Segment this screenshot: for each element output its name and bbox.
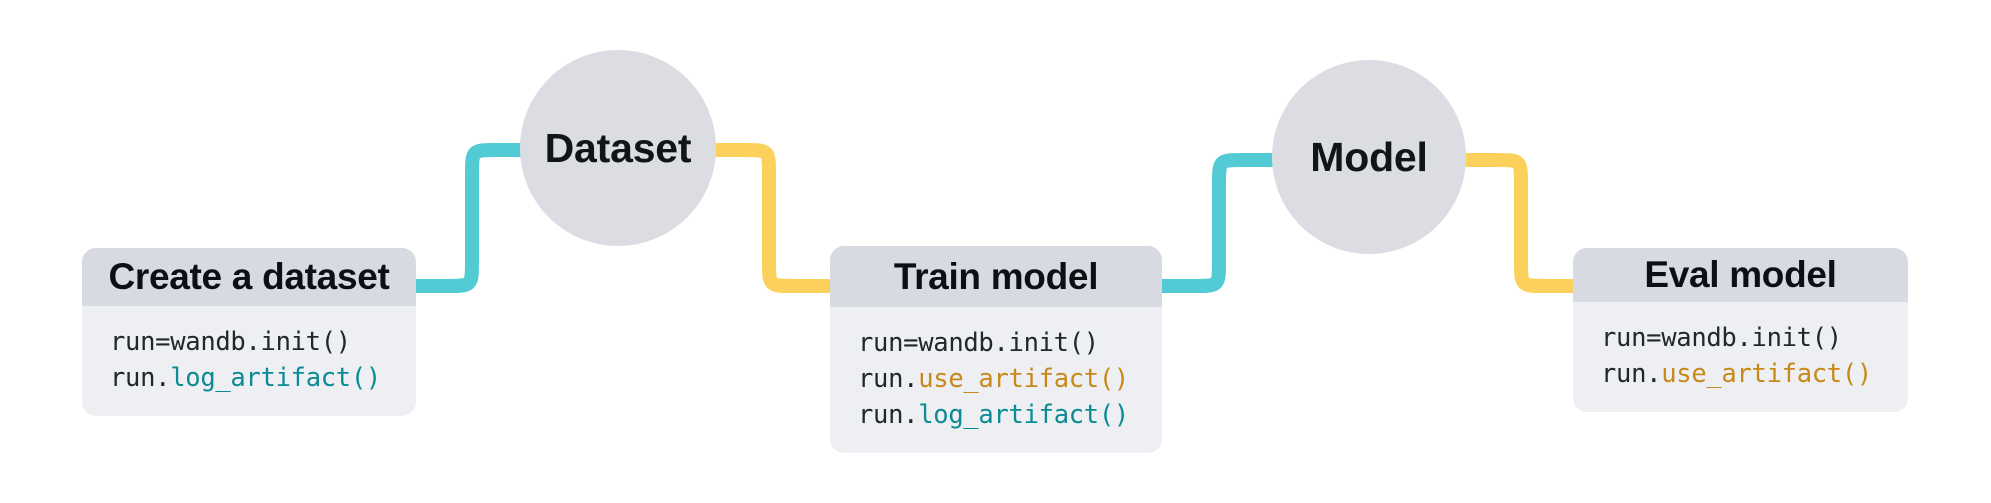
connector-model-to-eval-model xyxy=(1462,160,1576,286)
card-train-model[interactable]: Train model run=wandb.init() run.use_art… xyxy=(830,246,1162,453)
card-create-a-dataset-title: Create a dataset xyxy=(82,248,416,306)
code-token: run. xyxy=(110,363,170,393)
card-create-a-dataset-code: run=wandb.init() run.log_artifact() xyxy=(82,306,416,416)
card-train-model-code: run=wandb.init() run.use_artifact() run.… xyxy=(830,307,1162,453)
code-token: log_artifact() xyxy=(170,363,381,393)
connector-train-model-to-model xyxy=(1160,160,1276,286)
code-token: log_artifact() xyxy=(918,400,1129,430)
code-token: run. xyxy=(858,364,918,394)
card-eval-model-title: Eval model xyxy=(1573,248,1908,302)
diagram-canvas: Dataset Model Create a dataset run=wandb… xyxy=(0,0,1991,503)
code-token: run. xyxy=(858,400,918,430)
card-create-a-dataset[interactable]: Create a dataset run=wandb.init() run.lo… xyxy=(82,248,416,416)
code-token: run. xyxy=(1601,359,1661,389)
code-line: run.use_artifact() xyxy=(1601,356,1908,392)
code-token: run=wandb.init() xyxy=(1601,323,1842,353)
code-line: run=wandb.init() xyxy=(858,325,1162,361)
code-token: run=wandb.init() xyxy=(110,327,351,357)
code-line: run=wandb.init() xyxy=(110,324,416,360)
code-line: run.log_artifact() xyxy=(858,397,1162,433)
connector-dataset-to-train-model xyxy=(710,150,832,286)
code-token: use_artifact() xyxy=(1661,359,1872,389)
node-dataset-label: Dataset xyxy=(545,125,692,172)
node-model-label: Model xyxy=(1310,134,1427,181)
card-eval-model-code: run=wandb.init() run.use_artifact() xyxy=(1573,302,1908,412)
code-token: use_artifact() xyxy=(918,364,1129,394)
card-eval-model[interactable]: Eval model run=wandb.init() run.use_arti… xyxy=(1573,248,1908,412)
code-line: run.log_artifact() xyxy=(110,360,416,396)
code-line: run.use_artifact() xyxy=(858,361,1162,397)
code-line: run=wandb.init() xyxy=(1601,320,1908,356)
node-model[interactable]: Model xyxy=(1272,60,1466,254)
card-train-model-title: Train model xyxy=(830,246,1162,307)
code-token: run=wandb.init() xyxy=(858,328,1099,358)
connector-create-dataset-to-dataset xyxy=(413,150,524,286)
node-dataset[interactable]: Dataset xyxy=(520,50,716,246)
